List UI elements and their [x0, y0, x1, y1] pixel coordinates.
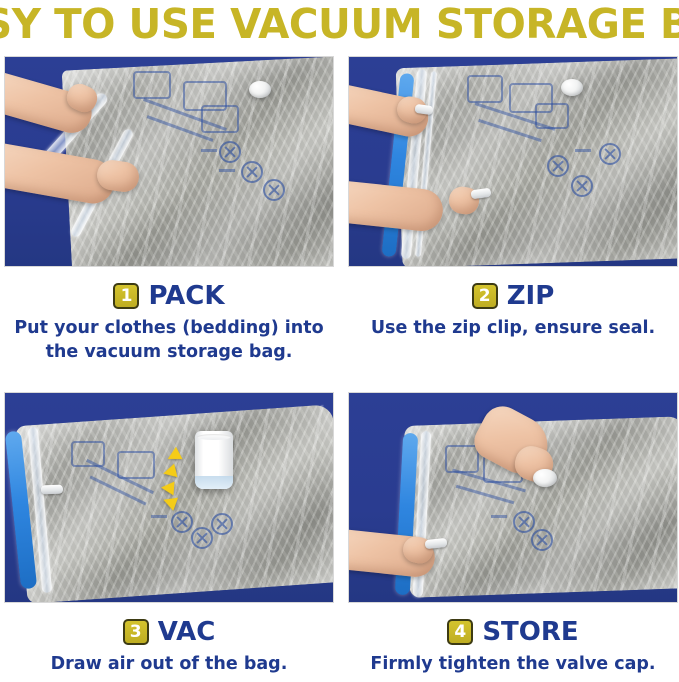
step-caption-1: 1 PACK Put your clothes (bedding) into t…	[4, 281, 334, 364]
step-photo-3	[4, 392, 334, 603]
step-number-badge-4: 4	[447, 619, 473, 645]
step-caption-3: 3 VAC Draw air out of the bag.	[4, 617, 334, 676]
step-card-2: 2 ZIP Use the zip clip, ensure seal.	[348, 56, 678, 340]
headline-banner: EASY TO USE VACUUM STORAGE BAG	[0, 0, 679, 48]
step-description-2: Use the zip clip, ensure seal.	[348, 316, 678, 340]
valve-cap-icon	[533, 469, 557, 487]
step-caption-4: 4 STORE Firmly tighten the valve cap.	[348, 617, 678, 676]
step-caption-2: 2 ZIP Use the zip clip, ensure seal.	[348, 281, 678, 340]
step-number-badge-2: 2	[472, 283, 498, 309]
step-heading-4: 4 STORE	[348, 617, 678, 647]
step-heading-3: 3 VAC	[4, 617, 334, 647]
step-title-1: PACK	[148, 283, 224, 310]
valve-cap-icon	[561, 79, 583, 96]
vacuum-bag-instruction-infographic: EASY TO USE VACUUM STORAGE BAG	[0, 0, 679, 682]
headline-text: EASY TO USE VACUUM STORAGE BAG	[0, 3, 679, 45]
step-title-3: VAC	[158, 619, 216, 646]
zip-clip	[41, 485, 63, 495]
vacuum-pump	[195, 431, 233, 489]
step-number-badge-1: 1	[113, 283, 139, 309]
step-heading-2: 2 ZIP	[348, 281, 678, 311]
step-title-2: ZIP	[507, 283, 555, 310]
step-description-4: Firmly tighten the valve cap.	[348, 652, 678, 676]
step-card-3: 3 VAC Draw air out of the bag.	[4, 392, 334, 676]
valve-cap-icon	[249, 81, 271, 98]
step-photo-1	[4, 56, 334, 267]
step-card-4: 4 STORE Firmly tighten the valve cap.	[348, 392, 678, 676]
step-photo-2	[348, 56, 678, 267]
step-description-1: Put your clothes (bedding) into the vacu…	[4, 316, 334, 364]
step-description-3: Draw air out of the bag.	[4, 652, 334, 676]
step-number-badge-3: 3	[123, 619, 149, 645]
steps-grid: 1 PACK Put your clothes (bedding) into t…	[0, 48, 679, 682]
step-heading-1: 1 PACK	[4, 281, 334, 311]
step-title-4: STORE	[482, 619, 578, 646]
step-photo-4	[348, 392, 678, 603]
step-card-1: 1 PACK Put your clothes (bedding) into t…	[4, 56, 334, 364]
